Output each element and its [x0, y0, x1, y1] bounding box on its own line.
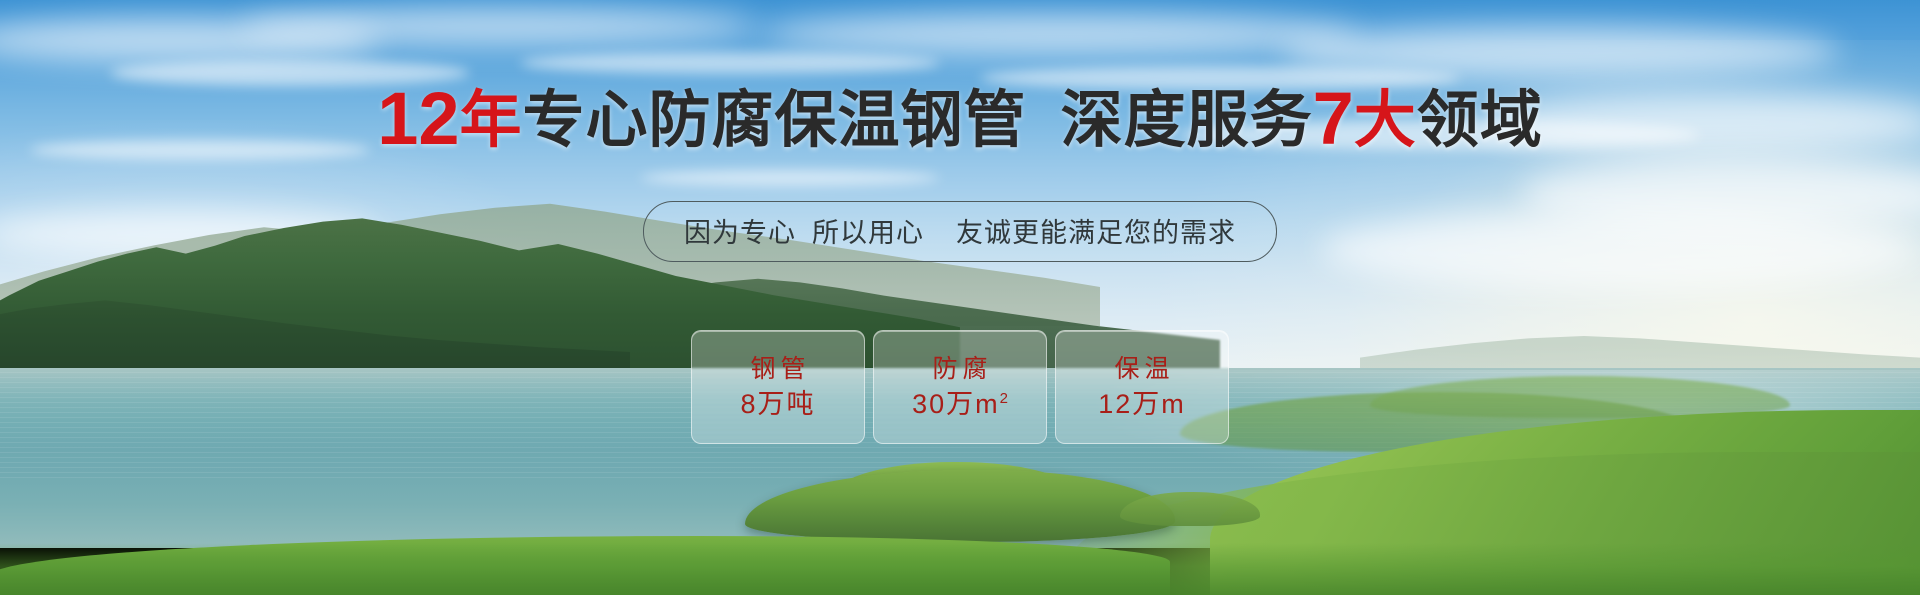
headline-fields-text: 领域 [1417, 86, 1543, 155]
stat-card-value: 12万m [1098, 391, 1186, 418]
headline-years-number: 12 [377, 77, 459, 160]
subtitle-pill: 因为专心所以用心友诚更能满足您的需求 [643, 201, 1277, 262]
stat-card-group: 钢管 8万吨 防腐 30万m2 保温 12万m [691, 330, 1229, 444]
subtitle-part-1: 因为专心 [684, 218, 796, 248]
headline-fields-number: 7 [1313, 77, 1354, 160]
headline-years-unit: 年 [460, 86, 523, 155]
stat-card-label: 保温 [1109, 357, 1174, 382]
stat-card-value: 8万吨 [740, 391, 815, 418]
hero-banner: 12年专心防腐保温钢管深度服务7大领域 因为专心所以用心友诚更能满足您的需求 钢… [0, 0, 1920, 595]
stat-card-label: 钢管 [745, 357, 810, 382]
stat-card-value: 30万m2 [912, 391, 1008, 418]
subtitle-part-3: 友诚更能满足您的需求 [956, 218, 1236, 248]
stat-card-value-text: 30万m [912, 389, 1000, 419]
stat-card-steel-pipe: 钢管 8万吨 [691, 330, 865, 444]
stat-card-value-sup: 2 [1000, 390, 1008, 407]
stat-card-value-text: 12万m [1098, 389, 1186, 419]
subtitle-part-2: 所以用心 [812, 218, 924, 248]
stat-card-value-text: 8万吨 [740, 389, 815, 419]
stat-card-anticorrosion: 防腐 30万m2 [873, 330, 1047, 444]
headline: 12年专心防腐保温钢管深度服务7大领域 [0, 82, 1920, 156]
stat-card-insulation: 保温 12万m [1055, 330, 1229, 444]
headline-fields-unit: 大 [1354, 86, 1417, 155]
headline-service-text: 深度服务 [1061, 86, 1313, 155]
stat-card-label: 防腐 [927, 357, 992, 382]
headline-main-text: 专心防腐保温钢管 [523, 86, 1027, 155]
